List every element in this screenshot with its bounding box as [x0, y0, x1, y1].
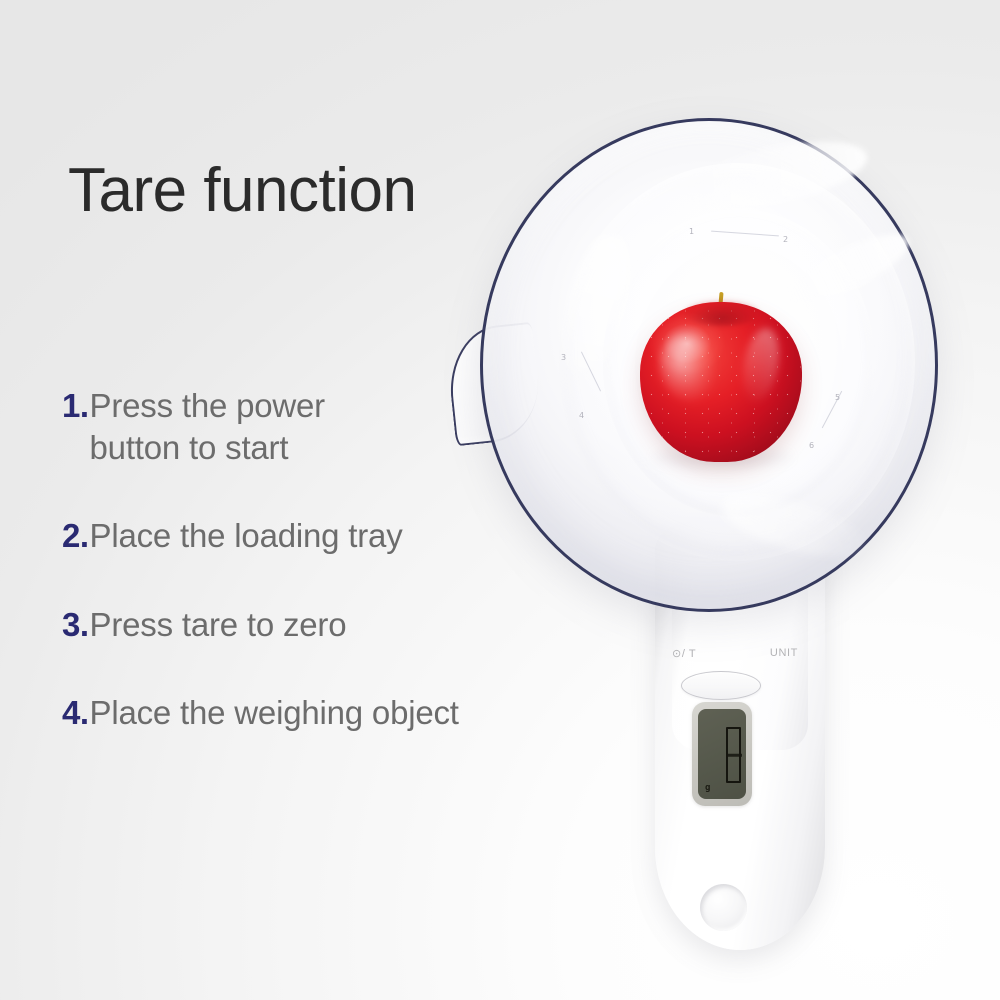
instruction-steps-list: 1. Press the power button to start 2. Pl…	[62, 385, 622, 780]
step-text: Place the loading tray	[90, 515, 403, 557]
list-item: 2. Place the loading tray	[62, 515, 622, 557]
graduation-line	[822, 391, 843, 429]
bowl-highlight	[779, 222, 917, 317]
power-tare-button-label[interactable]: ⊙/ T	[672, 647, 696, 660]
apple-highlight	[651, 327, 725, 409]
apple-shadow	[652, 444, 792, 470]
graduation-label: 1	[689, 227, 694, 236]
graduation-line	[711, 231, 779, 237]
lcd-display: g	[698, 709, 746, 799]
page-title: Tare function	[68, 158, 417, 223]
graduation-label: 3	[561, 353, 566, 362]
graduation-label: 6	[809, 441, 814, 450]
scale-handle	[655, 520, 825, 950]
apple-stem-well	[684, 300, 760, 326]
scale-handle-neck	[672, 520, 808, 750]
list-item: 4. Place the weighing object	[62, 692, 622, 734]
red-apple	[640, 292, 802, 464]
step-text: Press tare to zero	[90, 604, 347, 646]
graduation-label: 5	[835, 393, 840, 402]
list-item: 1. Press the power button to start	[62, 385, 622, 469]
control-labels: ⊙/ T UNIT	[672, 647, 798, 660]
apple-stem	[716, 292, 723, 328]
list-item: 3. Press tare to zero	[62, 604, 622, 646]
lcd-digit-zero	[726, 727, 741, 783]
step-number: 4.	[62, 692, 90, 734]
lcd-unit-label: g	[705, 784, 710, 793]
bowl-inner-ring-2	[603, 209, 875, 517]
step-text: Place the weighing object	[90, 692, 459, 734]
step-number: 1.	[62, 385, 90, 427]
bowl-base	[635, 245, 843, 485]
step-text: Press the power button to start	[90, 385, 420, 469]
product-poster: Tare function 1. Press the power button …	[0, 0, 1000, 1000]
lcd-bezel: g	[692, 702, 752, 806]
oval-control-button[interactable]	[681, 671, 761, 700]
step-number: 2.	[62, 515, 90, 557]
graduation-label: 2	[783, 235, 788, 244]
apple-lenticels	[640, 302, 802, 462]
bowl-highlight	[550, 228, 643, 388]
apple-highlight	[738, 326, 784, 405]
apple-body	[640, 302, 802, 462]
bowl-highlight	[679, 128, 873, 221]
bowl-highlight	[716, 483, 873, 569]
step-number: 3.	[62, 604, 90, 646]
hanging-hole	[700, 884, 747, 931]
unit-button-label[interactable]: UNIT	[770, 647, 798, 660]
